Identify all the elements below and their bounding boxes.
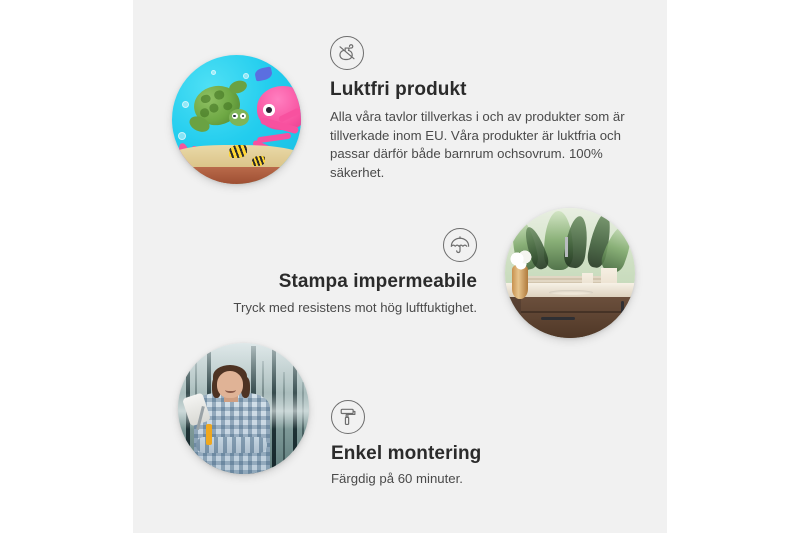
feature-title-mounting: Enkel montering	[331, 443, 591, 466]
feature-body-mounting: Färgdig på 60 minuter.	[331, 470, 591, 489]
painter-forest-photo	[178, 343, 309, 474]
underwater-cartoon-photo	[172, 55, 301, 184]
no-fragrance-spray-icon	[330, 36, 364, 70]
bathroom-wallpaper-photo	[505, 208, 635, 338]
feature-title-odourless: Luktfri produkt	[330, 79, 630, 102]
umbrella-icon	[443, 228, 477, 262]
paint-roller-icon	[331, 400, 365, 434]
product-feature-banner: Luktfri produkt Alla våra tavlor tillver…	[0, 0, 800, 533]
feature-block-mounting: Enkel montering Färgdig på 60 minuter.	[331, 400, 591, 489]
feature-body-odourless: Alla våra tavlor tillverkas i och av pro…	[330, 108, 630, 183]
feature-title-waterproof: Stampa impermeabile	[222, 271, 477, 294]
feature-block-odourless: Luktfri produkt Alla våra tavlor tillver…	[330, 36, 630, 183]
feature-block-waterproof: Stampa impermeabile Tryck med resistens …	[222, 228, 477, 318]
feature-body-waterproof: Tryck med resistens mot hög luftfuktighe…	[222, 299, 477, 318]
